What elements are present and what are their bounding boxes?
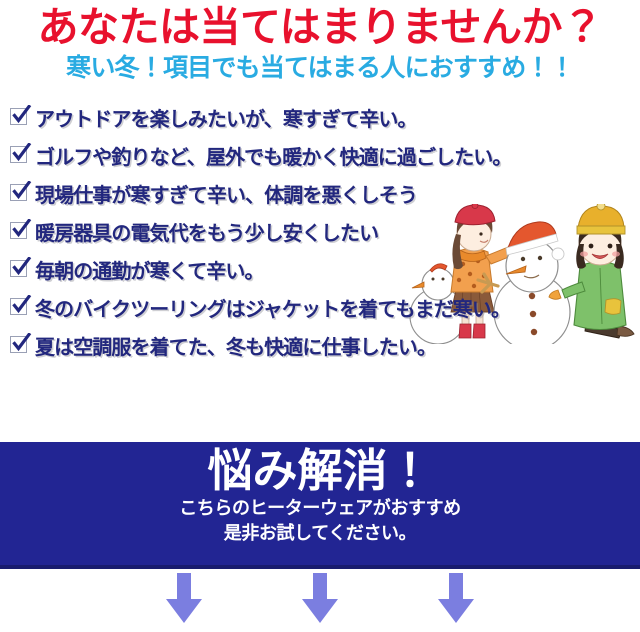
list-item[interactable]: アウトドアを楽しみたいが、寒すぎて辛い。	[10, 98, 640, 136]
checkmark-icon	[10, 146, 29, 165]
banner-subtitle-line-2: 是非お試してください。	[224, 521, 417, 545]
solution-banner: 悩み解消！ こちらのヒーターウェアがおすすめ 是非お試してください。	[0, 442, 640, 569]
page-headline: あなたは当てはまりませんか？	[8, 6, 632, 49]
page-subheadline: 寒い冬！項目でも当てはまる人におすすめ！！	[8, 55, 632, 81]
checkmark-icon	[10, 298, 29, 317]
checkmark-icon	[10, 222, 29, 241]
banner-title: 悩み解消！	[207, 446, 432, 496]
down-arrow-icon	[161, 573, 207, 625]
checkmark-icon	[10, 108, 29, 127]
list-item-label: 夏は空調服を着てた、冬も快適に仕事したい。	[35, 331, 436, 360]
banner-subtitle-line-1: こちらのヒーターウェアがおすすめ	[179, 496, 461, 520]
list-item-label: 毎朝の通勤が寒くて辛い。	[35, 255, 264, 284]
down-arrow-icon	[433, 573, 479, 625]
list-item[interactable]: 夏は空調服を着てた、冬も快適に仕事したい。	[10, 326, 640, 364]
list-item-label: 冬のバイクツーリングはジャケットを着てもまだ寒い。	[35, 293, 510, 322]
checklist: アウトドアを楽しみたいが、寒すぎて辛い。 ゴルフや釣りなど、屋外でも暖かく快適に…	[0, 98, 640, 364]
list-item-label: アウトドアを楽しみたいが、寒すぎて辛い。	[35, 103, 417, 132]
list-item[interactable]: 暖房器具の電気代をもう少し安くしたい	[10, 212, 640, 250]
list-item-label: 現場仕事が寒すぎて辛い、体調を悪くしそう	[35, 179, 417, 208]
arrow-row	[0, 573, 640, 632]
list-item[interactable]: ゴルフや釣りなど、屋外でも暖かく快適に過ごしたい。	[10, 136, 640, 174]
list-item[interactable]: 現場仕事が寒すぎて辛い、体調を悪くしそう	[10, 174, 640, 212]
list-item[interactable]: 毎朝の通勤が寒くて辛い。	[10, 250, 640, 288]
checkmark-icon	[10, 336, 29, 355]
header: あなたは当てはまりませんか？ 寒い冬！項目でも当てはまる人におすすめ！！	[0, 6, 640, 81]
checkmark-icon	[10, 184, 29, 203]
down-arrow-icon	[297, 573, 343, 625]
list-item-label: ゴルフや釣りなど、屋外でも暖かく快適に過ごしたい。	[35, 141, 512, 170]
list-item-label: 暖房器具の電気代をもう少し安くしたい	[35, 217, 378, 246]
checkmark-icon	[10, 260, 29, 279]
list-item[interactable]: 冬のバイクツーリングはジャケットを着てもまだ寒い。	[10, 288, 640, 326]
